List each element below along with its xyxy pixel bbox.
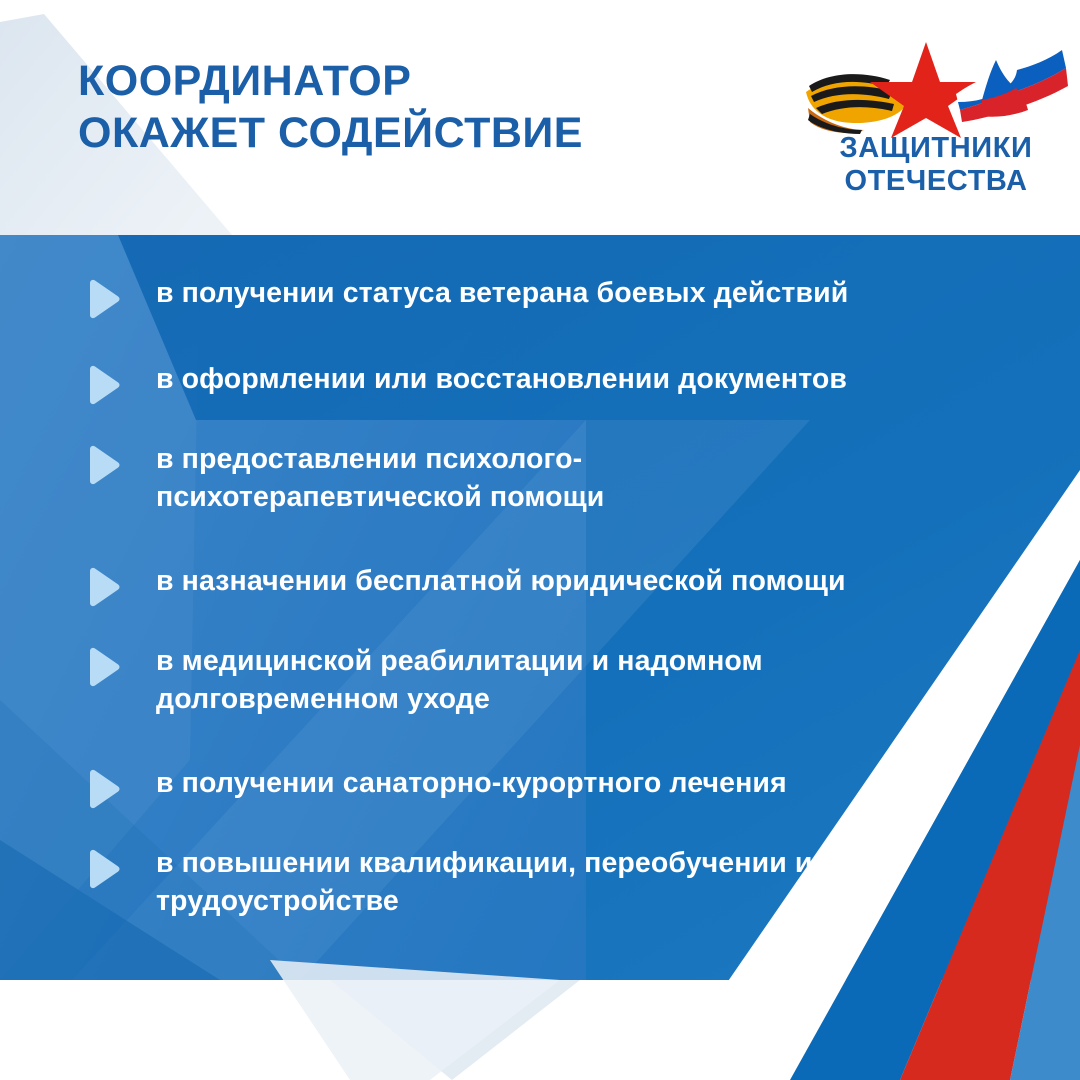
list-item: в получении санаторно-курортного лечения [84,765,1020,809]
list-item: в повышении квалификации, переобучении и… [84,845,1020,921]
list-item-text: в назначении бесплатной юридической помо… [156,563,846,601]
logo-wordmark-line-1: ЗАЩИТНИКИ [800,132,1072,165]
page-title-line-1: КООРДИНАТОР [78,55,583,107]
arrow-bullet-icon [84,279,122,319]
list-item: в оформлении или восстановлении документ… [84,361,1020,405]
page-title-line-2: ОКАЖЕТ СОДЕЙСТВИЕ [78,107,583,159]
list-item: в назначении бесплатной юридической помо… [84,563,1020,607]
header: КООРДИНАТОР ОКАЖЕТ СОДЕЙСТВИЕ [0,0,1080,235]
arrow-bullet-icon [84,365,122,405]
logo-wordmark-line-2: ОТЕЧЕСТВА [800,165,1072,198]
list-item-text: в получении статуса ветерана боевых дейс… [156,275,848,313]
poster-canvas: КООРДИНАТОР ОКАЖЕТ СОДЕЙСТВИЕ [0,0,1080,1080]
list-item-text: в получении санаторно-курортного лечения [156,765,787,803]
arrow-bullet-icon [84,445,122,485]
arrow-bullet-icon [84,567,122,607]
list-item: в получении статуса ветерана боевых дейс… [84,275,1020,319]
logo: ЗАЩИТНИКИ ОТЕЧЕСТВА [800,34,1072,202]
list-item-text: в предоставлении психолого-психотерапевт… [156,441,716,517]
arrow-bullet-icon [84,849,122,889]
arrow-bullet-icon [84,769,122,809]
page-title: КООРДИНАТОР ОКАЖЕТ СОДЕЙСТВИЕ [78,55,583,160]
russian-flag-ribbon-icon [956,41,1068,122]
list-item-text: в повышении квалификации, переобучении и… [156,845,896,921]
footer [0,980,1080,1080]
benefits-list: в получении статуса ветерана боевых дейс… [0,235,1080,980]
list-item: в медицинской реабилитации и надомном до… [84,643,1020,719]
list-item: в предоставлении психолого-психотерапевт… [84,441,1020,517]
list-item-text: в медицинской реабилитации и надомном до… [156,643,866,719]
logo-wordmark: ЗАЩИТНИКИ ОТЕЧЕСТВА [800,132,1072,198]
arrow-bullet-icon [84,647,122,687]
logo-emblem-icon [800,34,1072,138]
list-item-text: в оформлении или восстановлении документ… [156,361,847,399]
